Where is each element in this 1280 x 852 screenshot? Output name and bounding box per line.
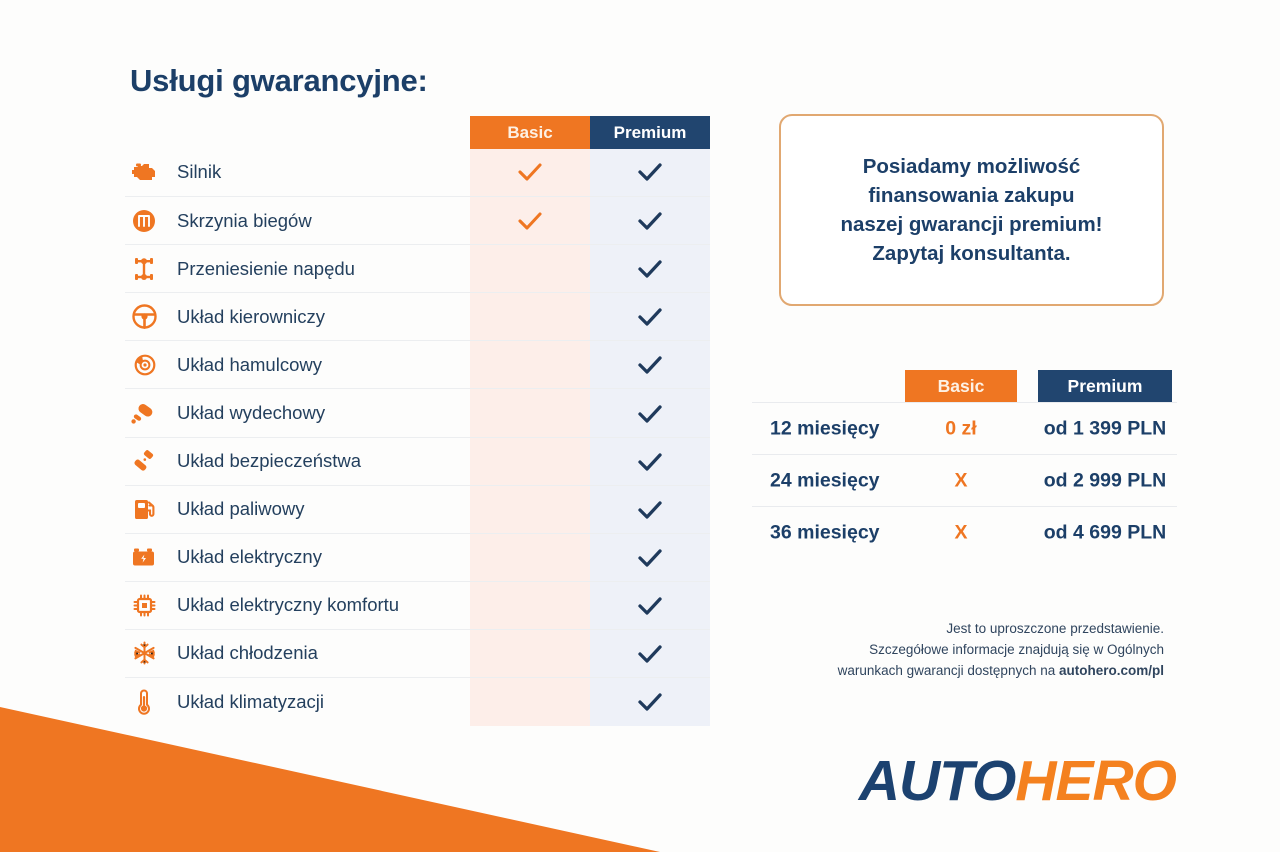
price-row: 12 miesięcy 0 zł od 1 399 PLN <box>752 402 1177 454</box>
exhaust-muffler-icon <box>125 401 163 425</box>
premium-cell <box>590 341 710 389</box>
financing-line-4: Zapytaj konsultanta. <box>872 239 1070 268</box>
premium-cell <box>590 534 710 582</box>
battery-icon <box>125 545 163 569</box>
drivetrain-axle-icon <box>125 256 163 282</box>
price-table: Basic Premium 12 miesięcy 0 zł od 1 399 … <box>752 370 1177 558</box>
financing-line-2: finansowania zakupu <box>868 181 1074 210</box>
basic-cell <box>470 630 590 678</box>
premium-cell <box>590 148 710 196</box>
basic-cell <box>470 148 590 196</box>
basic-cell <box>470 197 590 245</box>
premium-cell <box>590 197 710 245</box>
disclaimer-line-3: warunkach gwarancji dostępnych na autohe… <box>740 660 1164 681</box>
financing-callout-box: Posiadamy możliwość finansowania zakupu … <box>779 114 1164 306</box>
price-premium: od 4 699 PLN <box>1038 521 1172 544</box>
brake-disc-icon <box>125 352 163 377</box>
premium-cell <box>590 486 710 534</box>
price-column-header-premium: Premium <box>1038 370 1172 402</box>
disclaimer-text: Jest to uproszczone przedstawienie. Szcz… <box>740 618 1164 681</box>
table-row: Układ klimatyzacji <box>125 677 710 725</box>
table-row: Układ elektryczny komfortu <box>125 581 710 629</box>
basic-cell <box>470 438 590 486</box>
table-row: Skrzynia biegów <box>125 196 710 244</box>
premium-cell <box>590 678 710 726</box>
financing-line-3: naszej gwarancji premium! <box>840 210 1102 239</box>
disclaimer-line-2: Szczegółowe informacje znajdują się w Og… <box>740 639 1164 660</box>
price-table-header: Basic Premium <box>752 370 1177 402</box>
column-header-basic: Basic <box>470 116 590 149</box>
price-period: 36 miesięcy <box>770 521 880 544</box>
feature-list: Silnik Skrzynia biegów <box>125 148 710 725</box>
gearbox-icon <box>125 209 163 233</box>
table-row: Układ wydechowy <box>125 388 710 436</box>
price-basic: X <box>905 521 1017 544</box>
engine-icon <box>125 160 163 184</box>
fuel-pump-icon <box>125 497 163 522</box>
premium-cell <box>590 630 710 678</box>
price-row: 36 miesięcy X od 4 699 PLN <box>752 506 1177 558</box>
basic-cell <box>470 534 590 582</box>
table-row: Układ hamulcowy <box>125 340 710 388</box>
price-premium: od 1 399 PLN <box>1038 417 1172 440</box>
snowflake-icon <box>125 641 163 666</box>
basic-cell <box>470 486 590 534</box>
table-row: Silnik <box>125 148 710 196</box>
premium-cell <box>590 245 710 293</box>
price-period: 12 miesięcy <box>770 417 880 440</box>
services-panel: Usługi gwarancyjne: Basic Premium Silnik <box>0 0 740 852</box>
logo-text-auto: AUTO <box>859 748 1015 814</box>
table-row: Układ elektryczny <box>125 533 710 581</box>
seatbelt-icon <box>125 449 163 473</box>
table-row: Układ bezpieczeństwa <box>125 437 710 485</box>
page-title: Usługi gwarancyjne: <box>130 63 428 99</box>
price-row: 24 miesięcy X od 2 999 PLN <box>752 454 1177 506</box>
premium-cell <box>590 389 710 437</box>
basic-cell <box>470 678 590 726</box>
chip-icon <box>125 593 163 618</box>
price-column-header-basic: Basic <box>905 370 1017 402</box>
logo-text-hero: HERO <box>1015 748 1176 814</box>
table-row: Układ paliwowy <box>125 485 710 533</box>
premium-cell <box>590 293 710 341</box>
price-basic: X <box>905 469 1017 492</box>
table-row: Przeniesienie napędu <box>125 244 710 292</box>
premium-cell <box>590 582 710 630</box>
warranty-services-infographic: Usługi gwarancyjne: Basic Premium Silnik <box>0 0 1280 852</box>
basic-cell <box>470 582 590 630</box>
basic-cell <box>470 245 590 293</box>
financing-line-1: Posiadamy możliwość <box>863 152 1081 181</box>
table-row: Układ kierowniczy <box>125 292 710 340</box>
table-row: Układ chłodzenia <box>125 629 710 677</box>
premium-cell <box>590 438 710 486</box>
column-header-premium: Premium <box>590 116 710 149</box>
price-period: 24 miesięcy <box>770 469 880 492</box>
price-basic: 0 zł <box>905 417 1017 440</box>
basic-cell <box>470 293 590 341</box>
disclaimer-line-1: Jest to uproszczone przedstawienie. <box>740 618 1164 639</box>
offer-panel: Posiadamy możliwość finansowania zakupu … <box>740 0 1280 852</box>
basic-cell <box>470 389 590 437</box>
price-premium: od 2 999 PLN <box>1038 469 1172 492</box>
steering-wheel-icon <box>125 304 163 329</box>
autohero-url-link[interactable]: autohero.com/pl <box>1059 663 1164 678</box>
autohero-logo: AUTOHERO <box>756 745 1176 817</box>
thermometer-icon <box>125 689 163 715</box>
basic-cell <box>470 341 590 389</box>
disclaimer-line-3-prefix: warunkach gwarancji dostępnych na <box>838 663 1059 678</box>
